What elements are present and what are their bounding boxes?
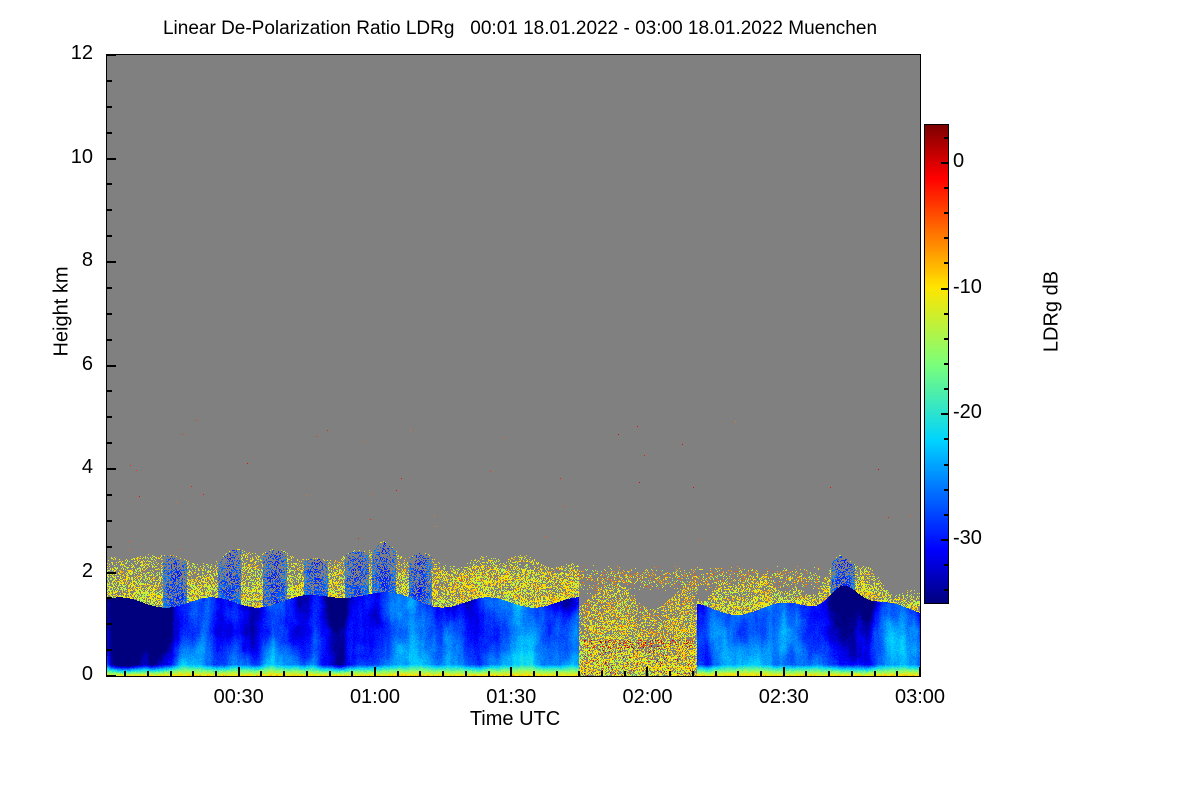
x-tick-major bbox=[374, 667, 376, 676]
y-tick-minor bbox=[107, 442, 112, 444]
colorbar-tick-minor bbox=[944, 137, 948, 139]
y-tick-minor bbox=[107, 80, 112, 82]
x-tick-minor bbox=[896, 671, 898, 676]
y-tick-minor bbox=[107, 623, 112, 625]
x-tick-major bbox=[238, 667, 240, 676]
y-tick-minor bbox=[107, 390, 112, 392]
y-tick-minor bbox=[107, 313, 112, 315]
colorbar-tick-minor bbox=[944, 187, 948, 189]
x-tick-minor bbox=[124, 671, 126, 676]
y-tick-minor bbox=[107, 132, 112, 134]
x-tick-major bbox=[510, 667, 512, 676]
y-tick-label: 4 bbox=[33, 456, 93, 479]
x-tick-label: 01:30 bbox=[456, 686, 566, 709]
x-tick-minor bbox=[465, 671, 467, 676]
colorbar-tick-minor bbox=[944, 363, 948, 365]
colorbar-tick-minor bbox=[944, 589, 948, 591]
x-tick-minor bbox=[533, 671, 535, 676]
x-tick-minor bbox=[283, 671, 285, 676]
x-tick-minor bbox=[828, 671, 830, 676]
y-tick-label: 2 bbox=[33, 560, 93, 583]
y-axis-label: Height km bbox=[51, 232, 74, 392]
y-tick-minor bbox=[107, 106, 112, 108]
y-tick-label: 12 bbox=[33, 42, 93, 65]
x-tick-minor bbox=[397, 671, 399, 676]
y-tick-major bbox=[107, 158, 116, 160]
y-tick-minor bbox=[107, 494, 112, 496]
y-tick-major bbox=[107, 468, 116, 470]
y-tick-minor bbox=[107, 183, 112, 185]
y-tick-minor bbox=[107, 339, 112, 341]
colorbar-tick-major bbox=[941, 288, 948, 290]
x-tick-minor bbox=[737, 671, 739, 676]
x-tick-minor bbox=[215, 671, 217, 676]
chart-title: Linear De-Polarization Ratio LDRg 00:01 … bbox=[0, 18, 1040, 40]
colorbar-tick-label: -10 bbox=[953, 276, 1023, 299]
colorbar-tick-minor bbox=[944, 388, 948, 390]
colorbar-tick-minor bbox=[944, 489, 948, 491]
x-tick-label: 02:30 bbox=[729, 686, 839, 709]
x-tick-minor bbox=[192, 671, 194, 676]
chart-figure: Linear De-Polarization Ratio LDRg 00:01 … bbox=[0, 0, 1200, 800]
x-tick-minor bbox=[147, 671, 149, 676]
y-tick-major bbox=[107, 54, 116, 56]
colorbar-tick-minor bbox=[944, 237, 948, 239]
x-tick-minor bbox=[805, 671, 807, 676]
colorbar-tick-label: 0 bbox=[953, 150, 1023, 173]
x-tick-major bbox=[783, 667, 785, 676]
y-tick-label: 10 bbox=[33, 146, 93, 169]
colorbar-tick-minor bbox=[944, 564, 948, 566]
x-tick-major bbox=[646, 667, 648, 676]
colorbar-tick-minor bbox=[944, 464, 948, 466]
x-tick-minor bbox=[692, 671, 694, 676]
y-tick-minor bbox=[107, 649, 112, 651]
colorbar-tick-major bbox=[941, 413, 948, 415]
x-tick-major bbox=[919, 667, 921, 676]
x-tick-label: 01:00 bbox=[320, 686, 430, 709]
colorbar-tick-label: -30 bbox=[953, 527, 1023, 550]
x-axis-label: Time UTC bbox=[370, 708, 660, 731]
x-tick-minor bbox=[442, 671, 444, 676]
x-tick-minor bbox=[601, 671, 603, 676]
x-tick-minor bbox=[329, 671, 331, 676]
x-tick-minor bbox=[669, 671, 671, 676]
x-tick-minor bbox=[351, 671, 353, 676]
colorbar-tick-minor bbox=[944, 262, 948, 264]
x-tick-minor bbox=[851, 671, 853, 676]
x-tick-label: 00:30 bbox=[184, 686, 294, 709]
y-tick-major bbox=[107, 365, 116, 367]
x-tick-minor bbox=[260, 671, 262, 676]
x-tick-minor bbox=[578, 671, 580, 676]
heatmap-canvas bbox=[107, 55, 920, 676]
y-tick-minor bbox=[107, 416, 112, 418]
y-tick-minor bbox=[107, 209, 112, 211]
y-tick-major bbox=[107, 261, 116, 263]
y-tick-minor bbox=[107, 235, 112, 237]
colorbar-tick-minor bbox=[944, 313, 948, 315]
colorbar-tick-major bbox=[941, 539, 948, 541]
x-tick-label: 03:00 bbox=[865, 686, 975, 709]
colorbar-tick-major bbox=[941, 162, 948, 164]
colorbar-tick-minor bbox=[944, 212, 948, 214]
heatmap-plot-area bbox=[106, 54, 921, 677]
x-tick-minor bbox=[874, 671, 876, 676]
colorbar-tick-minor bbox=[944, 438, 948, 440]
colorbar-label: LDRg dB bbox=[1041, 222, 1064, 402]
y-tick-minor bbox=[107, 287, 112, 289]
x-tick-label: 02:00 bbox=[592, 686, 702, 709]
x-tick-minor bbox=[488, 671, 490, 676]
y-tick-major bbox=[107, 572, 116, 574]
x-tick-minor bbox=[624, 671, 626, 676]
y-tick-minor bbox=[107, 520, 112, 522]
x-tick-minor bbox=[556, 671, 558, 676]
colorbar-tick-minor bbox=[944, 514, 948, 516]
x-tick-minor bbox=[760, 671, 762, 676]
x-tick-minor bbox=[419, 671, 421, 676]
y-tick-minor bbox=[107, 546, 112, 548]
x-tick-minor bbox=[170, 671, 172, 676]
x-tick-minor bbox=[715, 671, 717, 676]
y-tick-minor bbox=[107, 597, 112, 599]
colorbar-tick-minor bbox=[944, 338, 948, 340]
y-tick-label: 0 bbox=[33, 663, 93, 686]
y-tick-major bbox=[107, 675, 116, 677]
colorbar-tick-label: -20 bbox=[953, 401, 1023, 424]
x-tick-minor bbox=[306, 671, 308, 676]
